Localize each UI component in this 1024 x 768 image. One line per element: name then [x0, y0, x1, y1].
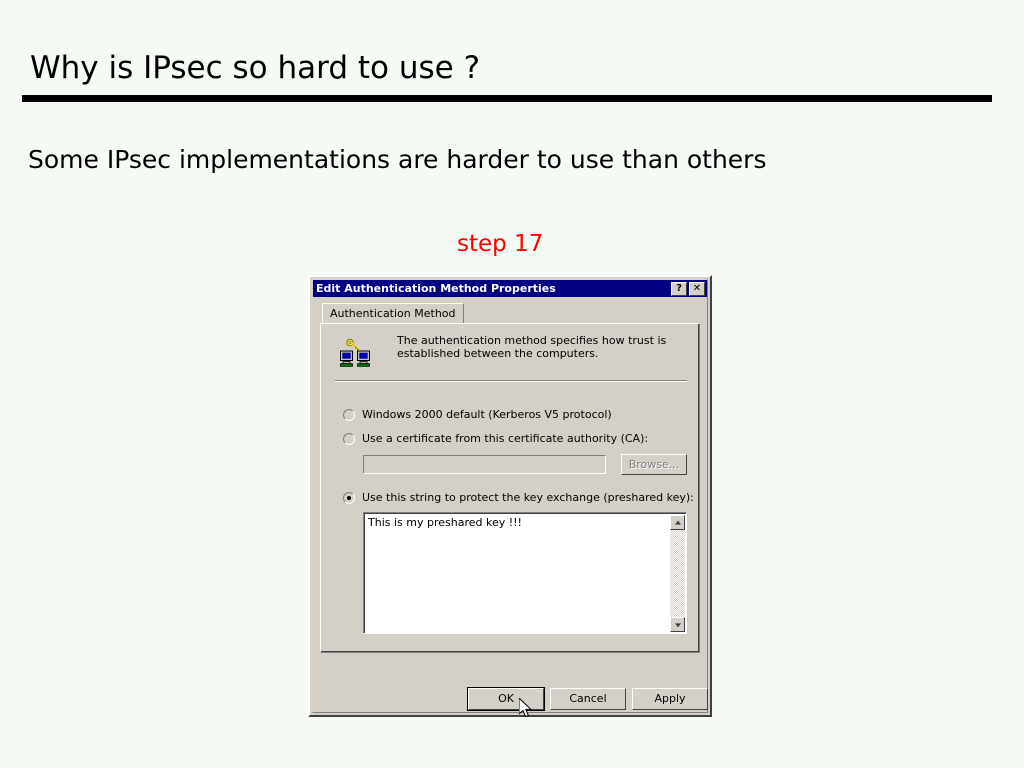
vertical-scrollbar[interactable] — [670, 515, 685, 632]
key-computers-icon — [339, 336, 371, 368]
tab-panel: The authentication method specifies how … — [320, 323, 700, 653]
preshared-key-value: This is my preshared key !!! — [368, 516, 522, 529]
title-underline-rule — [22, 95, 992, 102]
scroll-down-icon[interactable] — [670, 617, 685, 632]
radio-windows2000-default[interactable]: Windows 2000 default (Kerberos V5 protoc… — [343, 409, 612, 421]
ok-button[interactable]: OK — [468, 688, 544, 710]
close-icon[interactable]: ✕ — [689, 282, 705, 296]
description-separator — [335, 380, 687, 382]
edit-authentication-method-dialog: Edit Authentication Method Properties ? … — [308, 275, 712, 717]
description-row: The authentication method specifies how … — [339, 334, 684, 368]
radio-indicator[interactable] — [343, 433, 355, 445]
description-text: The authentication method specifies how … — [397, 334, 684, 360]
radio-certificate-authority[interactable]: Use a certificate from this certificate … — [343, 433, 648, 445]
help-button[interactable]: ? — [671, 282, 687, 296]
preshared-key-textarea[interactable]: This is my preshared key !!! — [363, 512, 687, 634]
tabstrip: Authentication Method — [320, 303, 700, 324]
step-label: step 17 — [457, 231, 543, 257]
radio-indicator[interactable] — [343, 492, 355, 504]
apply-button[interactable]: Apply — [632, 688, 708, 710]
scroll-up-icon[interactable] — [670, 515, 685, 530]
dialog-title-text: Edit Authentication Method Properties — [316, 282, 669, 295]
radio-label: Use a certificate from this certificate … — [362, 433, 648, 445]
cancel-button[interactable]: Cancel — [550, 688, 626, 710]
radio-label: Windows 2000 default (Kerberos V5 protoc… — [362, 409, 612, 421]
triangle-down-icon — [675, 623, 681, 627]
tab-authentication-method[interactable]: Authentication Method — [322, 303, 464, 324]
radio-preshared-key[interactable]: Use this string to protect the key excha… — [343, 492, 694, 504]
slide-subtitle: Some IPsec implementations are harder to… — [28, 145, 767, 174]
radio-indicator[interactable] — [343, 409, 355, 421]
radio-label: Use this string to protect the key excha… — [362, 492, 694, 504]
browse-button[interactable]: Browse... — [621, 454, 687, 475]
page-title: Why is IPsec so hard to use ? — [30, 50, 480, 86]
dialog-titlebar: Edit Authentication Method Properties ? … — [313, 280, 707, 297]
triangle-up-icon — [675, 520, 681, 524]
preshared-key-text-surface[interactable]: This is my preshared key !!! — [364, 513, 686, 633]
certificate-authority-input[interactable] — [363, 455, 606, 474]
